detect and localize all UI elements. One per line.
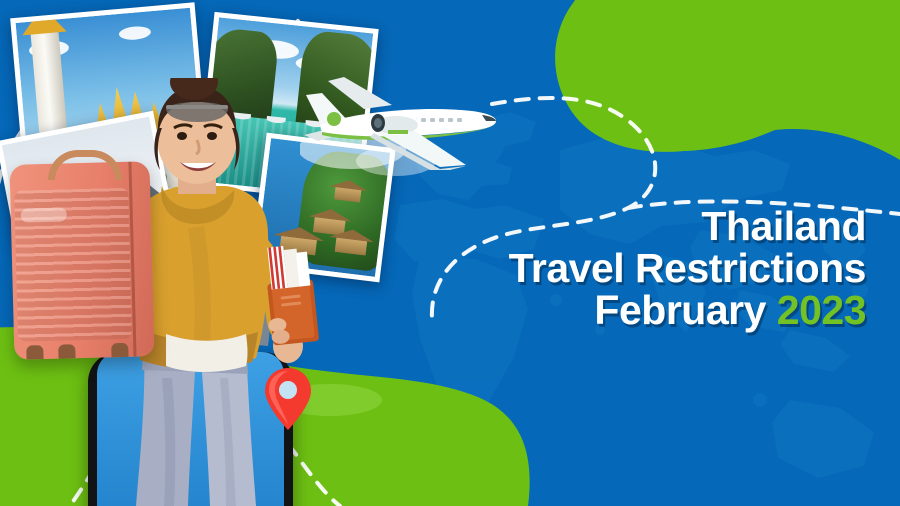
headline-line-2: Travel Restrictions	[509, 248, 866, 290]
headline-month: February	[594, 287, 765, 333]
suitcase-tag	[21, 207, 67, 222]
headline-line-1: Thailand	[509, 206, 866, 248]
suitcase-graphic	[9, 161, 154, 360]
travel-banner: Thailand Travel Restrictions February 20…	[0, 0, 900, 506]
location-pin-icon	[263, 366, 313, 432]
page-title: Thailand Travel Restrictions February 20…	[509, 206, 866, 331]
headline-year: 2023	[777, 287, 866, 333]
headline-line-3: February 2023	[509, 290, 866, 332]
